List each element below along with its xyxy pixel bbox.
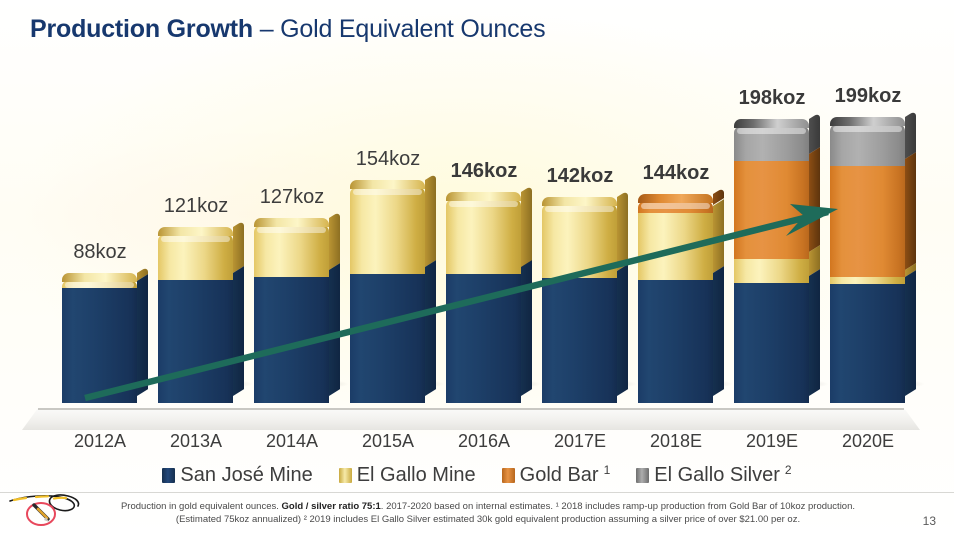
bar-top-lip: [734, 119, 809, 128]
bar-segment-san-jose-mine: [62, 288, 137, 403]
bar-segment-san-jose-mine: [446, 274, 521, 403]
bar-segment-san-jose-mine: [638, 280, 713, 403]
legend-swatch-gold: [339, 468, 352, 483]
bar-segment-san-jose-mine: [734, 283, 809, 403]
x-axis-tick-2020e: 2020E: [808, 431, 928, 452]
bar-segment-san-jose-mine: [830, 284, 905, 403]
bar-column-2019e: 198koz: [734, 126, 809, 403]
x-axis-labels: 2012A2013A2014A2015A2016A2017E2018E2019E…: [0, 431, 954, 455]
chart-baseline-floor: [22, 408, 920, 431]
bar-value-label-2014a: 127koz: [232, 186, 352, 209]
legend-swatch-orange: [502, 468, 515, 483]
stacked-bar: [350, 187, 425, 403]
bar-segment-san-jose-mine: [542, 278, 617, 403]
bar-segment-el-gallo-silver: [830, 124, 905, 166]
bar-column-2014a: 127koz: [254, 225, 329, 403]
bar-top-lip: [350, 180, 425, 189]
bar-value-label-2018e: 144koz: [616, 162, 736, 185]
stacked-bar: [62, 280, 137, 403]
legend-item-san-jose-mine[interactable]: San José Mine: [162, 464, 312, 487]
bar-segment-el-gallo-mine: [830, 277, 905, 284]
bar-segment-el-gallo-mine: [734, 259, 809, 283]
stacked-bar: [542, 204, 617, 403]
legend-swatch-gray: [636, 468, 649, 483]
bar-column-2017e: 142koz: [542, 204, 617, 403]
footnote-ratio: Gold / silver ratio 75:1: [282, 501, 381, 512]
stacked-bar: [830, 124, 905, 403]
bar-top-lip: [158, 227, 233, 236]
page-title-bold: Production Growth: [30, 15, 253, 43]
bar-column-2020e: 199koz: [830, 124, 905, 403]
legend-footnote-marker: 1: [604, 464, 611, 476]
bar-column-2015a: 154koz: [350, 187, 425, 403]
bar-top-highlight: [65, 282, 134, 288]
page-number: 13: [923, 514, 936, 528]
bar-top-highlight: [737, 128, 806, 134]
bar-segment-gold-bar: [734, 161, 809, 259]
legend-item-label: Gold Bar: [520, 464, 599, 487]
stacked-bar: [638, 201, 713, 403]
bar-top-highlight: [353, 189, 422, 195]
footnote-line1-a: Production in gold equivalent ounces.: [121, 501, 282, 512]
bar-top-highlight: [641, 203, 710, 209]
bar-top-highlight: [833, 126, 902, 132]
bar-top-lip: [62, 273, 137, 282]
bar-segment-gold-bar: [638, 201, 713, 212]
bar-column-2013a: 121koz: [158, 234, 233, 403]
bar-segment-el-gallo-mine: [638, 213, 713, 280]
bar-segment-el-gallo-mine: [350, 187, 425, 274]
page-title-normal: – Gold Equivalent Ounces: [253, 15, 545, 43]
legend-item-label: El Gallo Silver: [654, 464, 780, 487]
bar-value-label-2012a: 88koz: [40, 241, 160, 264]
bar-value-label-2020e: 199koz: [808, 85, 928, 108]
bar-segment-el-gallo-mine: [254, 225, 329, 277]
bar-top-lip: [446, 192, 521, 201]
footnote-line1-c: . 2017-2020 based on internal estimates.…: [381, 501, 855, 512]
slide-canvas: Production Growth – Gold Equivalent Ounc…: [0, 0, 954, 536]
footer-divider: [0, 492, 954, 493]
legend-swatch-navy: [162, 468, 175, 483]
bar-segment-el-gallo-mine: [542, 204, 617, 278]
legend-footnote-marker: 2: [785, 464, 792, 476]
bar-segment-el-gallo-mine: [446, 199, 521, 275]
bar-segment-el-gallo-silver: [734, 126, 809, 161]
bar-top-lip: [254, 218, 329, 227]
bar-top-lip: [542, 197, 617, 206]
legend-item-label: San José Mine: [180, 464, 312, 487]
stacked-bar: [446, 199, 521, 403]
bar-top-lip: [638, 194, 713, 203]
legend-item-el-gallo-mine[interactable]: El Gallo Mine: [339, 464, 476, 487]
footnote-text: Production in gold equivalent ounces. Go…: [88, 500, 888, 526]
bar-segment-san-jose-mine: [254, 277, 329, 403]
legend-item-el-gallo-silver[interactable]: El Gallo Silver2: [636, 464, 791, 487]
bar-top-lip: [830, 117, 905, 126]
footnote-line2: (Estimated 75koz annualized) ² 2019 incl…: [176, 514, 800, 525]
bar-segment-san-jose-mine: [350, 274, 425, 403]
bar-column-2016a: 146koz: [446, 199, 521, 403]
bar-top-highlight: [449, 201, 518, 207]
bar-segment-gold-bar: [830, 166, 905, 277]
bar-segment-el-gallo-mine: [158, 234, 233, 280]
bar-column-2012a: 88koz: [62, 280, 137, 403]
stacked-bar: [158, 234, 233, 403]
chart-legend: San José MineEl Gallo MineGold Bar1El Ga…: [0, 461, 954, 489]
stacked-bar: [734, 126, 809, 403]
lasso-logo-icon: [8, 483, 92, 531]
bar-top-highlight: [161, 236, 230, 242]
stacked-bar: [254, 225, 329, 403]
chart-plot-area: 88koz121koz127koz154koz146koz142koz144ko…: [0, 70, 954, 425]
bar-column-2018e: 144koz: [638, 201, 713, 403]
bar-top-highlight: [257, 227, 326, 233]
bar-top-highlight: [545, 206, 614, 212]
bar-segment-san-jose-mine: [158, 280, 233, 403]
bar-segment-el-gallo-mine: [62, 280, 137, 288]
legend-item-label: El Gallo Mine: [357, 464, 476, 487]
page-title: Production Growth – Gold Equivalent Ounc…: [30, 15, 545, 44]
legend-item-gold-bar[interactable]: Gold Bar1: [502, 464, 611, 487]
